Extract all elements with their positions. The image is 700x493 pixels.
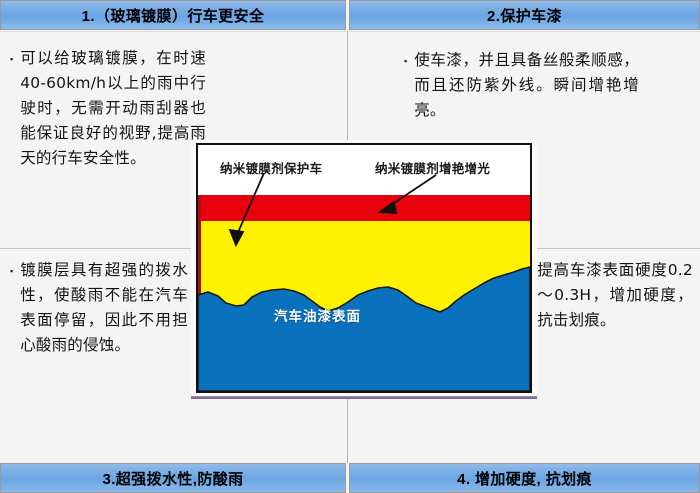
bullet-item: ▪ 提高车漆表面硬度0.2～0.3H，增加硬度，抗击划痕。 xyxy=(527,258,693,333)
diagram-label-substrate: 汽车油漆表面 xyxy=(274,305,361,325)
bullet-item: ▪ 镀膜层具有超强的拨水性，使酸雨不能在汽车表面停留，因此不用担心酸雨的侵蚀。 xyxy=(10,258,188,358)
panel-top-left: ▪ 可以给玻璃镀膜，在时速40-60km/h以上的雨中行驶时，无需开动雨刮器也能… xyxy=(10,46,206,171)
panel-bottom-right-text: 提高车漆表面硬度0.2～0.3H，增加硬度，抗击划痕。 xyxy=(537,258,693,333)
header-quadrant-bottom-left: 3.超强拨水性,防酸雨 xyxy=(0,463,346,493)
diagram-vector-layer xyxy=(198,145,530,391)
bullet-item: ▪ 可以给玻璃镀膜，在时速40-60km/h以上的雨中行驶时，无需开动雨刮器也能… xyxy=(10,46,206,171)
divider-under-header-right xyxy=(349,31,700,32)
coating-cross-section-diagram: 纳米镀膜剂保护车 纳米镀膜剂增艳增光 汽车油漆表面 xyxy=(196,143,532,393)
header-quadrant-top-right: 2.保护车漆 xyxy=(349,0,700,30)
panel-bottom-left-text: 镀膜层具有超强的拨水性，使酸雨不能在汽车表面停留，因此不用担心酸雨的侵蚀。 xyxy=(20,258,188,358)
header-quadrant-top-left: 1.（玻璃镀膜）行车更安全 xyxy=(0,0,346,30)
panel-bottom-right: ▪ 提高车漆表面硬度0.2～0.3H，增加硬度，抗击划痕。 xyxy=(527,258,693,333)
diagram-label-gloss: 纳米镀膜剂增艳增光 xyxy=(375,158,490,177)
slide-canvas: 1.（玻璃镀膜）行车更安全 2.保护车漆 3.超强拨水性,防酸雨 4. 增加硬度… xyxy=(0,0,700,493)
panel-top-right: ▪ 使车漆，并且具备丝般柔顺感，而且还防紫外线。瞬间增艳增亮。 xyxy=(404,48,639,123)
diagram-substrate-shape xyxy=(198,267,530,391)
panel-bottom-left: ▪ 镀膜层具有超强的拨水性，使酸雨不能在汽车表面停留，因此不用担心酸雨的侵蚀。 xyxy=(10,258,188,358)
bullet-square-icon: ▪ xyxy=(404,57,407,66)
diagram-arrow-left xyxy=(230,173,264,245)
header-quadrant-bottom-right: 4. 增加硬度, 抗划痕 xyxy=(349,463,700,493)
panel-top-left-text: 可以给玻璃镀膜，在时速40-60km/h以上的雨中行驶时，无需开动雨刮器也能保证… xyxy=(20,46,206,171)
diagram-label-protect: 纳米镀膜剂保护车 xyxy=(220,158,322,177)
bullet-item: ▪ 使车漆，并且具备丝般柔顺感，而且还防紫外线。瞬间增艳增亮。 xyxy=(404,48,639,123)
divider-under-header-left xyxy=(0,31,346,32)
diagram-underline-strip xyxy=(191,396,537,399)
bullet-square-icon: ▪ xyxy=(10,267,13,276)
diagram-arrow-right xyxy=(380,175,436,213)
panel-top-right-text: 使车漆，并且具备丝般柔顺感，而且还防紫外线。瞬间增艳增亮。 xyxy=(414,48,639,123)
bullet-square-icon: ▪ xyxy=(10,55,13,64)
